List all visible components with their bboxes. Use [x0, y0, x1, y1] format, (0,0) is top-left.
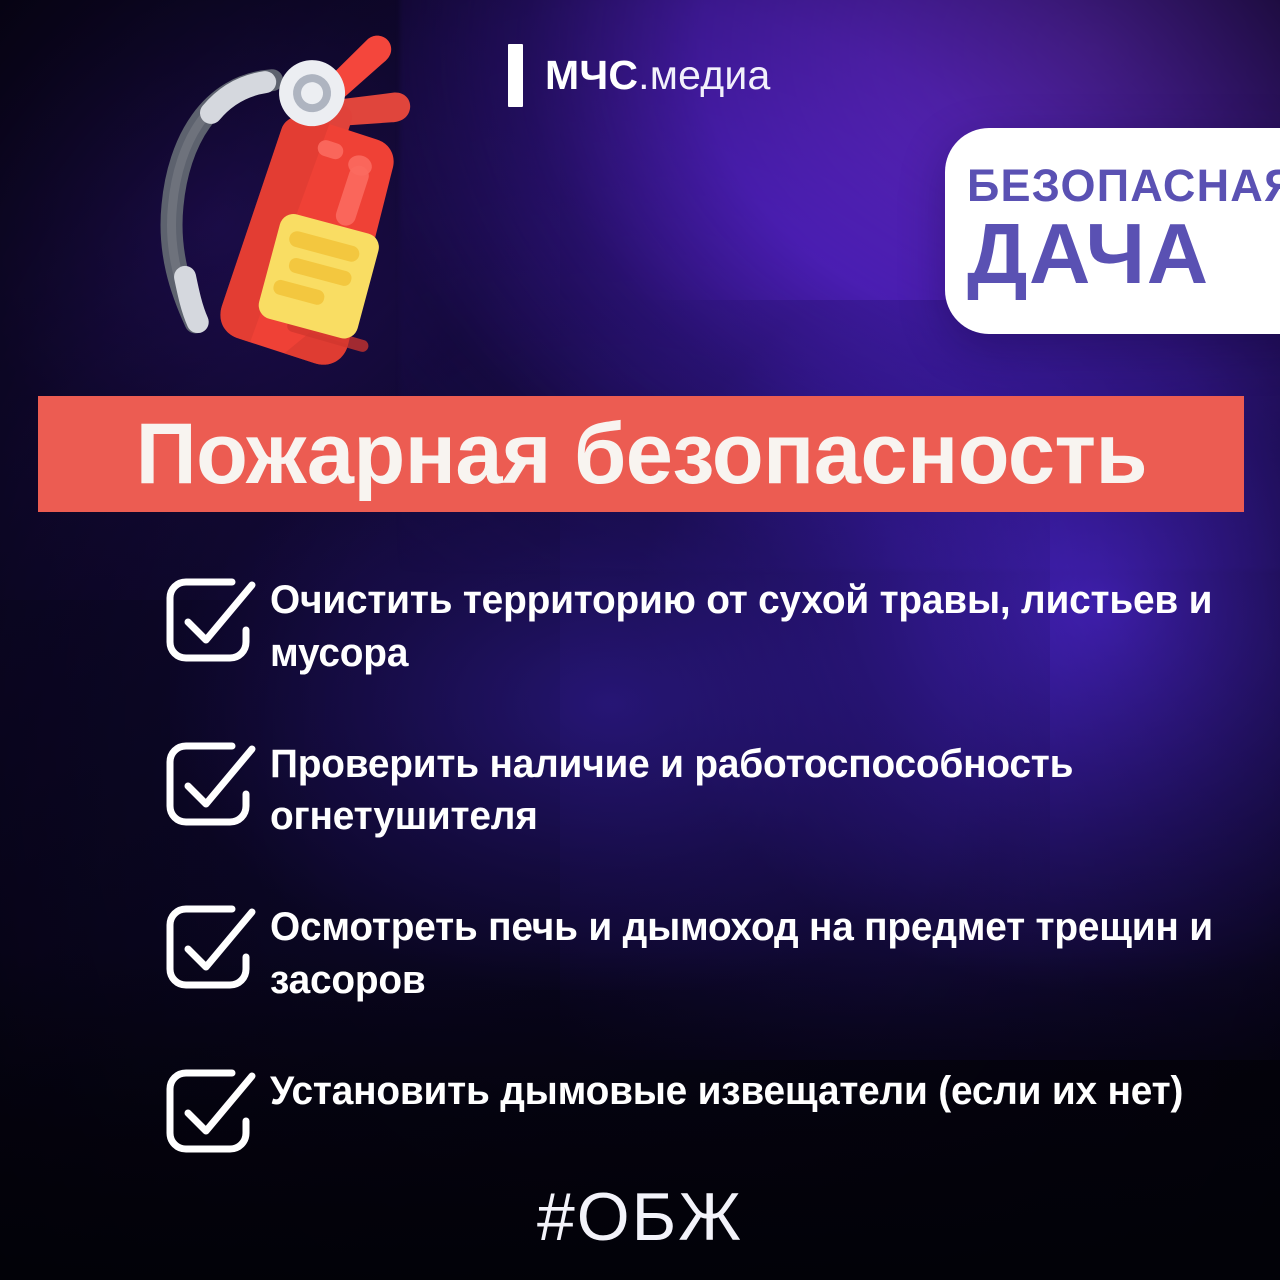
- checklist-item-label: Установить дымовые извещатели (если их н…: [270, 1057, 1183, 1118]
- poster-root: МЧС.медиа БЕЗОПАСНАЯ ДАЧА Пожарная безоп…: [0, 0, 1280, 1280]
- checklist: Очистить территорию от сухой травы, лист…: [160, 566, 1270, 1159]
- checkbox-checked-icon: [160, 572, 256, 668]
- brand-logo: МЧС.медиа: [508, 44, 770, 107]
- checklist-item: Установить дымовые извещатели (если их н…: [160, 1057, 1270, 1159]
- fire-extinguisher-illustration: [112, 18, 442, 383]
- campaign-badge-card: БЕЗОПАСНАЯ ДАЧА: [945, 128, 1280, 334]
- campaign-badge-line-2: ДАЧА: [967, 212, 1280, 299]
- vertical-bar-icon: [508, 44, 523, 107]
- checklist-item-label: Очистить территорию от сухой травы, лист…: [270, 566, 1240, 680]
- brand-name-light: .медиа: [638, 52, 770, 98]
- checkbox-checked-icon: [160, 899, 256, 995]
- page-title: Пожарная безопасность: [135, 411, 1146, 497]
- title-banner: Пожарная безопасность: [38, 396, 1244, 512]
- checklist-item-label: Осмотреть печь и дымоход на предмет трещ…: [270, 893, 1240, 1007]
- checklist-item-label: Проверить наличие и работоспособность ог…: [270, 730, 1240, 844]
- footer-hashtag: #ОБЖ: [0, 1183, 1280, 1251]
- checklist-item: Осмотреть печь и дымоход на предмет трещ…: [160, 893, 1270, 1007]
- checklist-item: Очистить территорию от сухой травы, лист…: [160, 566, 1270, 680]
- checkbox-checked-icon: [160, 736, 256, 832]
- campaign-badge-line-1: БЕЗОПАСНАЯ: [967, 163, 1280, 208]
- brand-logo-text: МЧС.медиа: [545, 55, 770, 96]
- brand-name-bold: МЧС: [545, 52, 638, 98]
- checklist-item: Проверить наличие и работоспособность ог…: [160, 730, 1270, 844]
- checkbox-checked-icon: [160, 1063, 256, 1159]
